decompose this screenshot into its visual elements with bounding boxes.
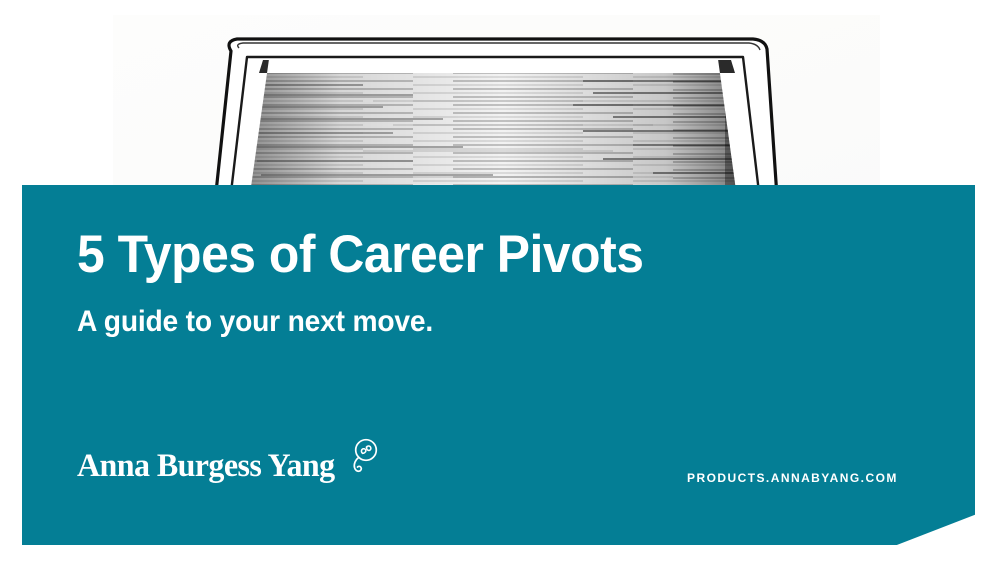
slide-canvas: 5 Types of Career Pivots A guide to your… — [0, 0, 1000, 568]
headline-block: 5 Types of Career Pivots A guide to your… — [77, 227, 777, 338]
site-url-label[interactable]: PRODUCTS.ANNABYANG.COM — [687, 471, 898, 485]
brand-logo[interactable]: Anna Burgess Yang — [77, 450, 379, 483]
page-title: 5 Types of Career Pivots — [77, 227, 735, 283]
page-subtitle: A guide to your next move. — [77, 305, 735, 338]
logo-wordmark: Anna Burgess Yang — [77, 450, 335, 483]
teal-content-panel: 5 Types of Career Pivots A guide to your… — [22, 185, 975, 545]
circular-monogram-flourish-icon — [345, 438, 379, 478]
